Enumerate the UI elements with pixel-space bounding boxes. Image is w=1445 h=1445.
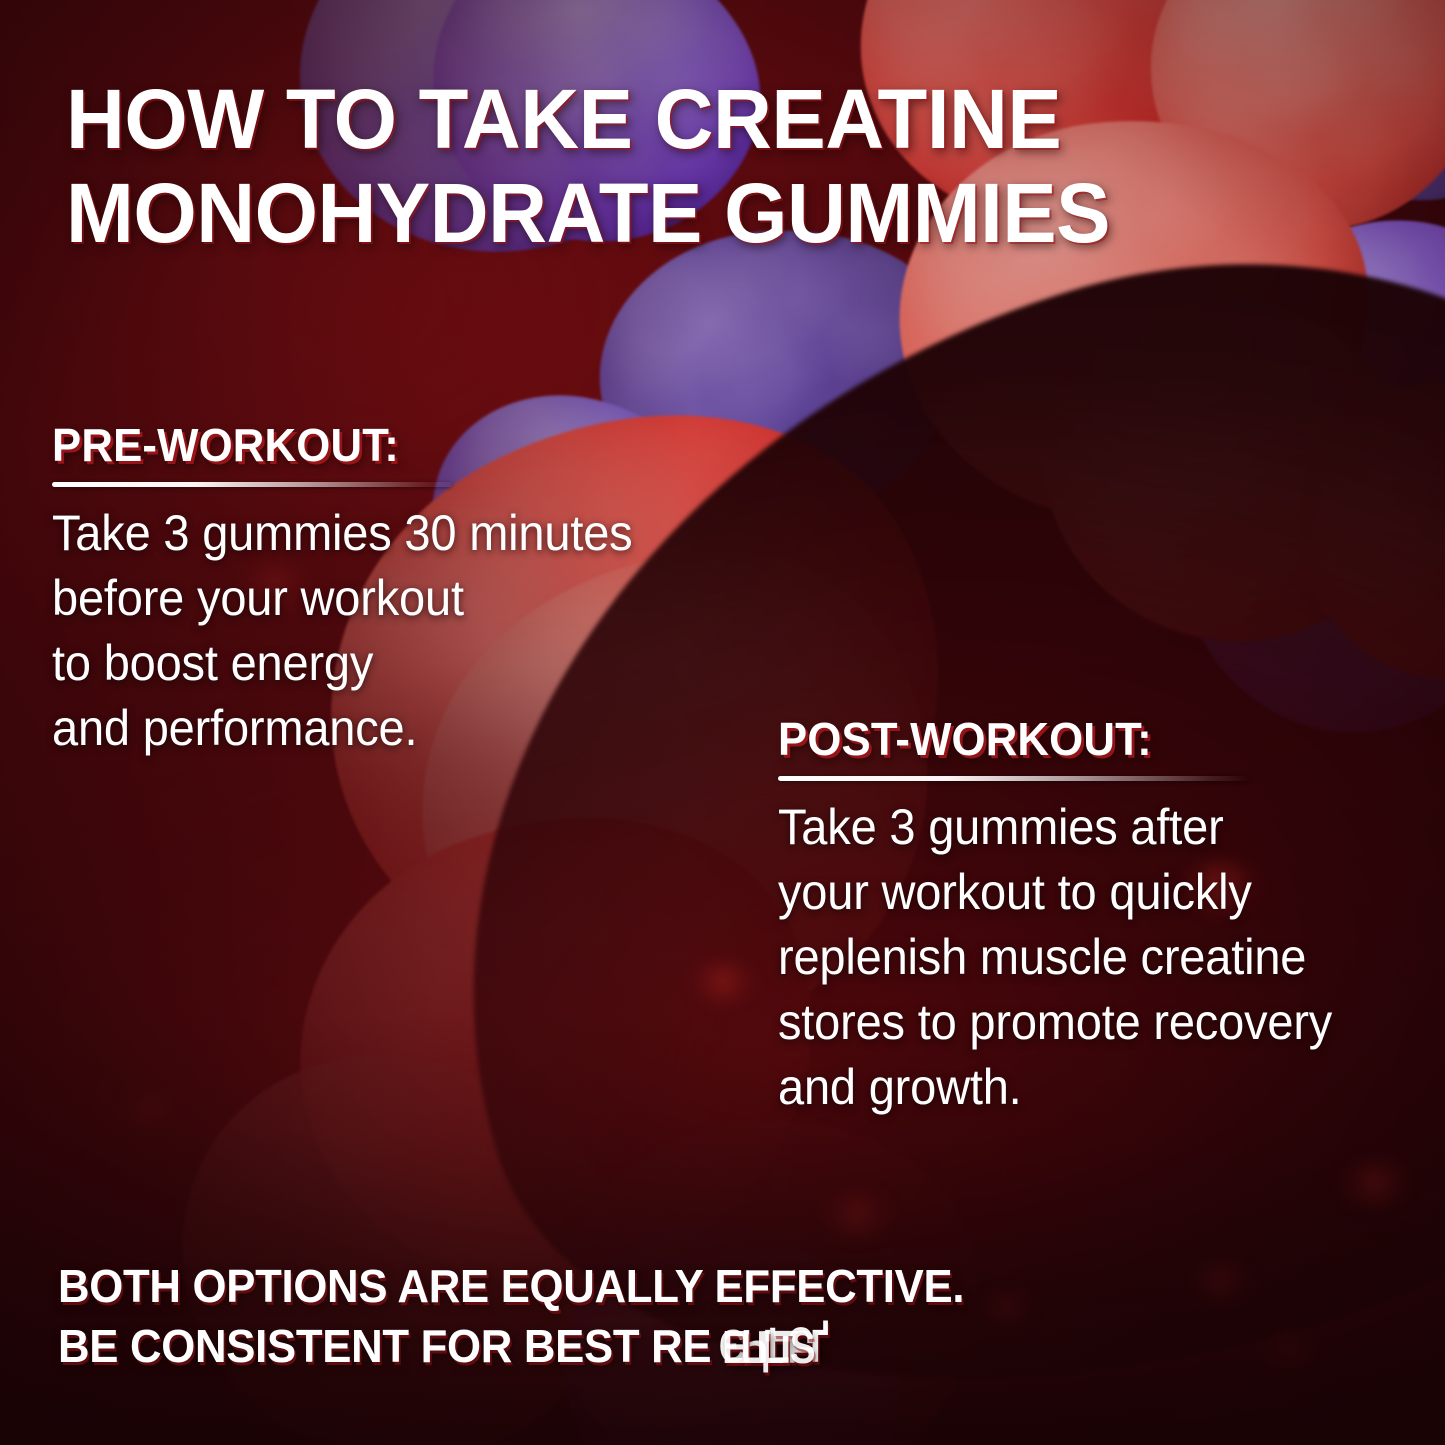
post-workout-divider xyxy=(778,776,1248,781)
post-workout-heading: POST-WORKOUT: xyxy=(778,712,1386,766)
pre-workout-heading: PRE-WORKOUT: xyxy=(52,418,717,472)
section-pre-workout: PRE-WORKOUT: Take 3 gummies 30 minutes b… xyxy=(52,418,752,761)
pre-workout-body: Take 3 gummies 30 minutes before your wo… xyxy=(52,501,710,761)
footer-glitch-text: ЄҺ'ԷԲҐЕЦLTS xyxy=(718,1317,823,1377)
footer-line-1: BOTH OPTIONS ARE EQUALLY EFFECTIVE. xyxy=(58,1257,1331,1317)
footer-glitch-overlay: ЕЦLTS xyxy=(722,1318,808,1378)
footer-line-2: BE CONSISTENT FOR BEST REЄҺ'ԷԲҐЕЦLTS xyxy=(58,1317,1331,1377)
content-layer: HOW TO TAKE CREATINE MONOHYDRATE GUMMIES… xyxy=(0,0,1445,1445)
post-workout-body: Take 3 gummies after your workout to qui… xyxy=(778,795,1380,1120)
footer-note: BOTH OPTIONS ARE EQUALLY EFFECTIVE. BE C… xyxy=(58,1257,1331,1377)
section-post-workout: POST-WORKOUT: Take 3 gummies after your … xyxy=(778,712,1418,1120)
infographic-canvas: HOW TO TAKE CREATINE MONOHYDRATE GUMMIES… xyxy=(0,0,1445,1445)
pre-workout-divider xyxy=(52,482,452,487)
page-title: HOW TO TAKE CREATINE MONOHYDRATE GUMMIES xyxy=(66,72,1356,260)
footer-line-2-prefix: BE CONSISTENT FOR BEST RE xyxy=(58,1320,711,1372)
